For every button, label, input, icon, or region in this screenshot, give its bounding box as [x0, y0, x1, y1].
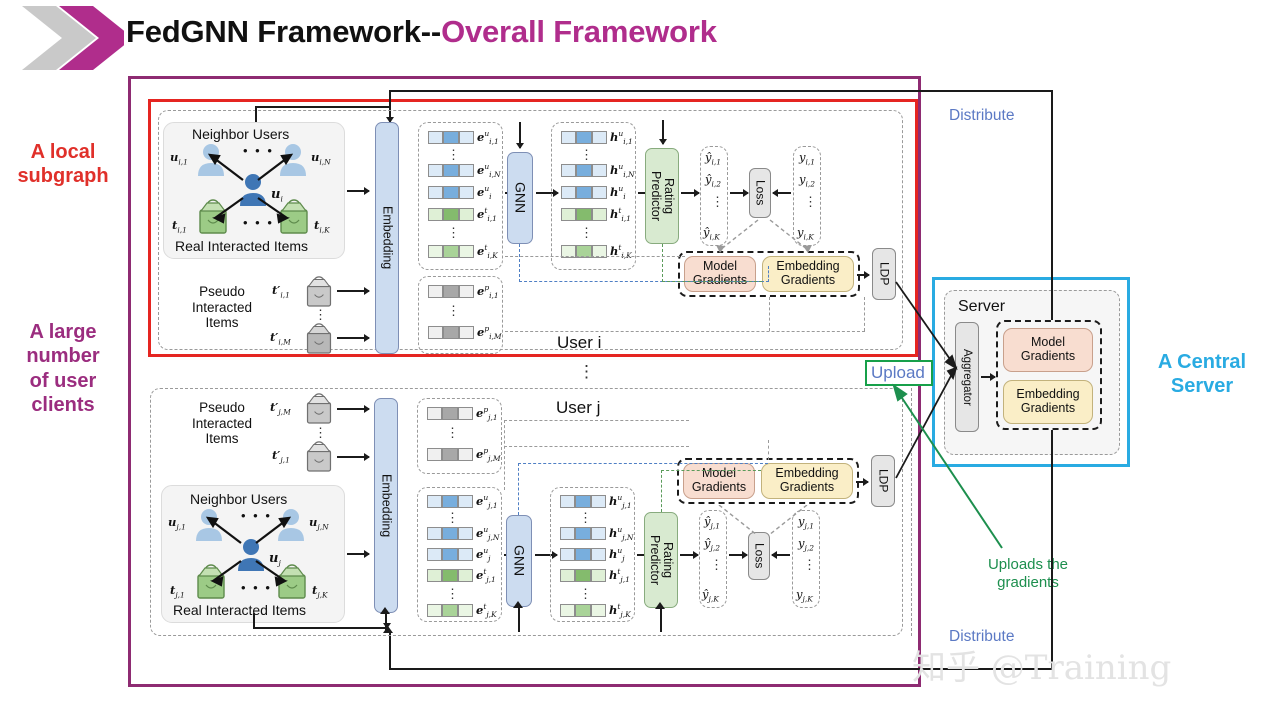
embedding-vector — [428, 208, 474, 221]
embedding-block-j: Embedding — [374, 398, 398, 613]
page-title-main: FedGNN Framework-- — [126, 14, 441, 49]
subgraph-return-riser-i — [255, 106, 257, 122]
gnn-label-j: GNN — [507, 516, 531, 606]
pseudo-feedback-riser2-i — [864, 297, 865, 331]
embedding-label-j: Embedding — [375, 399, 397, 612]
pred-ellipsis: ⋮ — [710, 562, 723, 569]
pseudo-label-j1: t′j,1 — [272, 448, 290, 464]
gnn-j-arrowhead — [513, 601, 523, 608]
embedding-gradients-i: EmbeddingGradients — [762, 256, 854, 292]
loss-block-j: Loss — [748, 532, 770, 580]
distribute-wire-lower-stub — [389, 632, 391, 669]
rating-predictor-i: RatingPredictor — [645, 148, 679, 244]
embedding-block-i: Embedding — [375, 122, 399, 354]
arrow-pseudoM-to-embedding-i — [337, 337, 369, 339]
gnn-feedback-dashed-v-j — [518, 463, 519, 515]
embedding-vector — [428, 245, 474, 258]
hidden-label: huj,1 — [609, 493, 632, 510]
embedding-vector — [427, 527, 473, 540]
user-i-label: User i — [557, 333, 601, 353]
embedding-label: eui,N — [477, 162, 501, 179]
pseudo-ellipsis-i: ⋮ — [314, 312, 327, 319]
pseudo-embedding-vector — [428, 326, 474, 339]
rating-predictor-j: RatingPredictor — [644, 512, 678, 608]
subgraph-return-wire-j — [253, 627, 386, 629]
rating-predictor-label-i: RatingPredictor — [646, 149, 678, 243]
embedding-label: eui,1 — [477, 129, 499, 146]
hidden-vector — [560, 527, 606, 540]
pseudo-bag-icon — [304, 440, 334, 472]
subgraph-return-wire-i — [255, 106, 389, 108]
gnn-feedback-dashed-i — [519, 244, 520, 282]
arrow-into-gnn-i — [519, 122, 521, 148]
hidden-label: htj,1 — [609, 567, 630, 584]
page-title: FedGNN Framework--Overall Framework — [126, 14, 717, 50]
target-label: yj,K — [796, 587, 813, 603]
hidden-label: htj,K — [609, 602, 631, 619]
gnn-label-i: GNN — [508, 153, 532, 243]
predictor-j-arrowhead — [655, 602, 665, 609]
pseudo-embedding-label: epi,M — [477, 324, 502, 341]
embedding-vector — [428, 186, 474, 199]
prediction-label: ŷj,K — [702, 587, 719, 603]
arrow-subgraph-to-embedding-i — [347, 190, 369, 192]
pseudo-items-label-i: PseudoInteractedItems — [192, 284, 252, 331]
pred-ellipsis: ⋮ — [711, 199, 724, 206]
hidden-vector — [561, 131, 607, 144]
loss-block-i: Loss — [749, 168, 771, 218]
embedding-label: euj,1 — [476, 493, 498, 510]
predictor-j-riser — [660, 608, 662, 632]
embedding-vector — [428, 131, 474, 144]
predictor-grad-dashed-h-j — [661, 470, 761, 471]
gnn-feedback-dashed-h-j — [518, 463, 768, 464]
embedding-label: etj,1 — [476, 567, 496, 584]
hidden-label: huj,N — [609, 525, 634, 542]
hidden-vector — [560, 604, 606, 617]
embedding-label: euj,N — [476, 525, 499, 542]
vec-ellipsis: ⋮ — [580, 230, 593, 237]
target-label: yi,1 — [799, 150, 815, 166]
pseudo-bag-icon — [304, 392, 334, 424]
pseudo-label-iM: t′i,M — [270, 330, 291, 346]
server-bottom-wire — [1051, 430, 1053, 670]
emb-grad-up-i — [769, 297, 770, 331]
vec-ellipsis: ⋮ — [446, 591, 459, 598]
pseudo-label-i1: t′i,1 — [272, 283, 290, 299]
pseudo-feedback-dashed2-i — [505, 331, 865, 332]
pseudo-label-jM: t′j,M — [270, 400, 291, 416]
pseudo-embedding-label: epi,1 — [477, 283, 499, 300]
vec-ellipsis: ⋮ — [446, 515, 459, 522]
clients-ellipsis: ⋮ — [578, 368, 595, 377]
embedding-vector — [427, 569, 473, 582]
gnn-block-i: GNN — [507, 152, 533, 244]
model-gradients-i: ModelGradients — [684, 256, 756, 292]
vec-ellipsis: ⋮ — [447, 152, 460, 159]
embedding-label: etj,K — [476, 602, 497, 619]
loss-to-gradients-dashed-j — [677, 505, 859, 537]
gradients-up-j — [768, 440, 769, 460]
model-gradients-j: ModelGradients — [683, 463, 755, 499]
pseudo-embedding-label: epj,1 — [476, 405, 498, 422]
loss-to-gradients-dashed-i — [678, 218, 860, 254]
hidden-label: hui,1 — [610, 129, 633, 146]
arrow-pseudoM-to-embedding-j — [337, 408, 369, 410]
rating-predictor-label-j: RatingPredictor — [645, 513, 677, 607]
hidden-label: hti,1 — [610, 206, 631, 223]
pseudo-embedding-vector — [428, 285, 474, 298]
arrow-preds-to-loss-i — [730, 192, 748, 194]
loss-label-i: Loss — [750, 169, 770, 217]
hidden-label: hui,N — [610, 162, 635, 179]
embedding-vector — [428, 164, 474, 177]
target-ellipsis: ⋮ — [803, 562, 816, 569]
pseudo-bag-icon — [304, 322, 334, 354]
prediction-label: ŷi,2 — [705, 172, 721, 188]
embedding-vector — [427, 604, 473, 617]
prediction-label: ŷi,1 — [705, 150, 721, 166]
embedding-label: euj — [476, 546, 491, 563]
pseudo-embedding-vector — [427, 448, 473, 461]
user-j-label: User j — [556, 398, 600, 418]
vec-ellipsis: ⋮ — [579, 515, 592, 522]
pseudo-feedback-dashed-i — [505, 256, 685, 257]
target-ellipsis: ⋮ — [804, 199, 817, 206]
hidden-vector — [561, 208, 607, 221]
pseudo-ellipsis-j: ⋮ — [314, 430, 327, 437]
pseudo-embedding-label: epj,M — [476, 446, 501, 463]
hidden-label: hti,K — [610, 243, 632, 260]
hidden-label: hui — [610, 184, 626, 201]
pseudo-feedback-v-j — [504, 420, 505, 490]
gradient-blue-riser-i — [768, 266, 769, 282]
caption-local-subgraph: A localsubgraph — [0, 140, 126, 189]
prediction-label: ŷj,2 — [704, 536, 720, 552]
subgraph-return-riser-j — [253, 613, 255, 628]
hidden-vector — [560, 495, 606, 508]
arrow-targets-to-loss-i — [773, 192, 791, 194]
hidden-vector — [560, 569, 606, 582]
distribute-label-top: Distribute — [949, 107, 1014, 125]
caption-user-clients: A largenumberof userclients — [0, 320, 126, 418]
uploads-gradients-arrow — [880, 378, 1010, 553]
hidden-vector — [561, 186, 607, 199]
pseudo-bag-icon — [304, 275, 334, 307]
vec-ellipsis: ⋮ — [446, 430, 459, 437]
arrow-gradients-to-ldp-j — [856, 481, 868, 483]
target-label: yi,2 — [799, 172, 815, 188]
embedding-label: eti,1 — [477, 206, 497, 223]
embedding-gradients-j: EmbeddingGradients — [761, 463, 853, 499]
server-model-gradients: ModelGradients — [1003, 328, 1093, 372]
hidden-vector — [561, 164, 607, 177]
embedding-vector — [427, 548, 473, 561]
caption-uploads-gradients: Uploads thegradients — [948, 556, 1108, 592]
pseudo-items-label-j: PseudoInteractedItems — [192, 400, 252, 447]
loss-label-j: Loss — [749, 533, 769, 579]
embedding-j-riser — [385, 613, 387, 632]
gnn-j-riser — [518, 607, 520, 632]
gnn-block-j: GNN — [506, 515, 532, 607]
server-embedding-gradients: EmbeddingGradients — [1003, 380, 1093, 424]
predictor-grad-dashed-j — [661, 470, 662, 512]
arrow-predictor-to-preds-j — [680, 554, 698, 556]
arrow-gradients-to-ldp-i — [857, 274, 869, 276]
vec-ellipsis: ⋮ — [580, 152, 593, 159]
hidden-vector — [560, 548, 606, 561]
predictor-grad-dashed-h-i — [662, 281, 762, 282]
embedding-label: eti,K — [477, 243, 498, 260]
arrow-targets-to-loss-j — [772, 554, 790, 556]
target-label: yj,2 — [798, 536, 814, 552]
server-top-wire — [1051, 90, 1053, 320]
arrow-preds-to-loss-j — [729, 554, 747, 556]
watermark: 知乎 @Training — [912, 640, 1171, 689]
hidden-label: huj — [609, 546, 625, 563]
page-title-accent: Overall Framework — [441, 14, 717, 49]
arrow-pseudo1-to-embedding-j — [337, 456, 369, 458]
subgraph-edges-j — [161, 485, 345, 623]
arrow-into-predictor-i — [662, 120, 664, 144]
caption-central-server: A CentralServer — [1138, 350, 1266, 399]
vec-ellipsis: ⋮ — [447, 308, 460, 315]
vec-ellipsis: ⋮ — [447, 230, 460, 237]
arrow-predictor-to-preds-i — [681, 192, 699, 194]
predictor-grad-dashed-i — [662, 244, 663, 282]
pseudo-embedding-vector — [427, 407, 473, 420]
pseudo-feedback-dashed2-j — [504, 446, 689, 447]
arrow-pseudo1-to-embedding-i — [337, 290, 369, 292]
embedding-j-arrowhead — [380, 607, 390, 614]
vec-ellipsis: ⋮ — [579, 591, 592, 598]
subgraph-edges-i — [163, 122, 345, 259]
distribute-wire-top — [389, 90, 1053, 92]
embedding-label-i: Embedding — [376, 123, 398, 353]
embedding-label: eui — [477, 184, 492, 201]
pseudo-feedback-dashed-j — [504, 420, 689, 421]
embedding-vector — [427, 495, 473, 508]
arrow-subgraph-to-embedding-j — [347, 553, 369, 555]
double-chevron-icon — [14, 4, 124, 72]
